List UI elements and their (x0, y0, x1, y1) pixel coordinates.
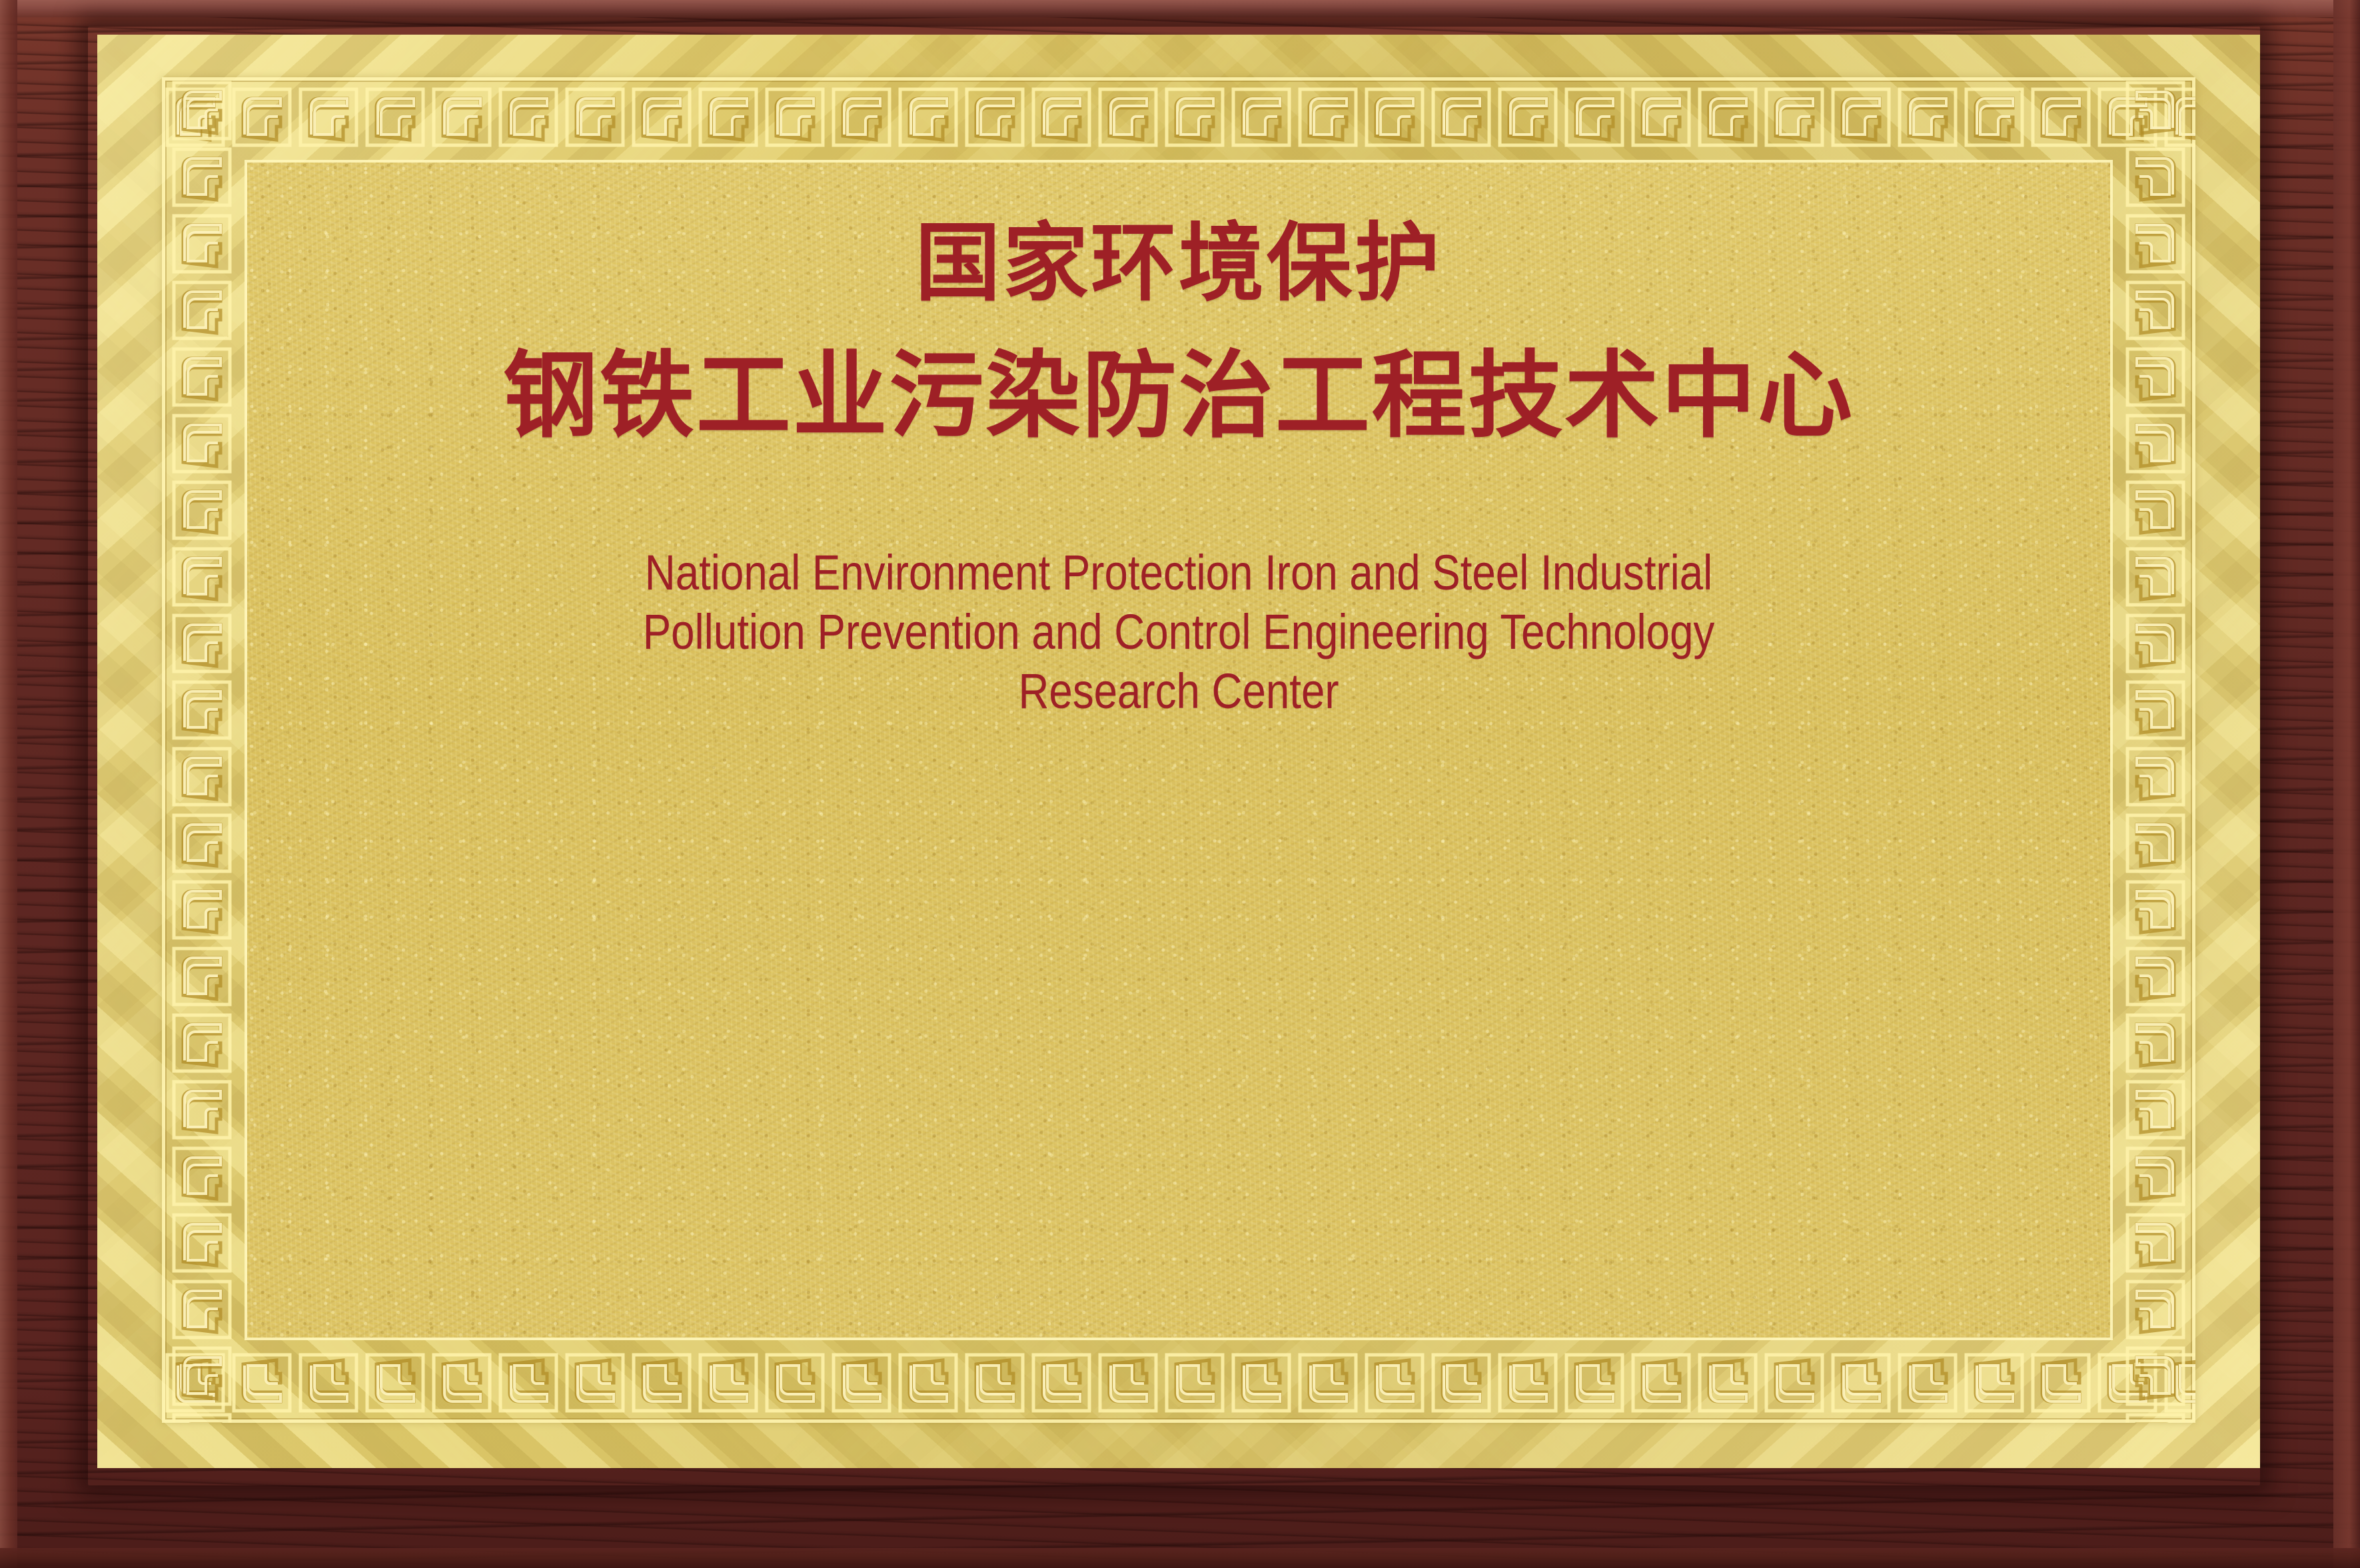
english-subtitle-line-3: Research Center (456, 662, 1900, 721)
meander-border-frame: 国家环境保护 钢铁工业污染防治工程技术中心 National Environme… (162, 77, 2195, 1423)
meander-band-right (2117, 77, 2195, 1423)
inscription-text-stack: 国家环境保护 钢铁工业污染防治工程技术中心 National Environme… (247, 163, 2110, 1338)
gold-plate: 国家环境保护 钢铁工业污染防治工程技术中心 National Environme… (97, 35, 2260, 1468)
english-subtitle-line-2: Pollution Prevention and Control Enginee… (456, 603, 1900, 662)
chinese-title-line-2: 钢铁工业污染防治工程技术中心 (503, 349, 1854, 444)
frame-bevel-left (0, 0, 17, 1568)
inscription-panel: 国家环境保护 钢铁工业污染防治工程技术中心 National Environme… (247, 163, 2110, 1338)
meander-band-top (162, 77, 2195, 156)
award-plaque: 国家环境保护 钢铁工业污染防治工程技术中心 National Environme… (0, 0, 2360, 1568)
meander-band-left (162, 77, 241, 1423)
frame-bevel-top (0, 0, 2360, 17)
frame-bevel-bottom (0, 1548, 2360, 1568)
chinese-title-line-1: 国家环境保护 (915, 221, 1442, 306)
english-subtitle-line-1: National Environment Protection Iron and… (456, 544, 1900, 603)
meander-band-bottom (162, 1344, 2195, 1423)
english-subtitle-block: National Environment Protection Iron and… (456, 544, 1900, 721)
frame-bevel-right (2333, 0, 2360, 1568)
